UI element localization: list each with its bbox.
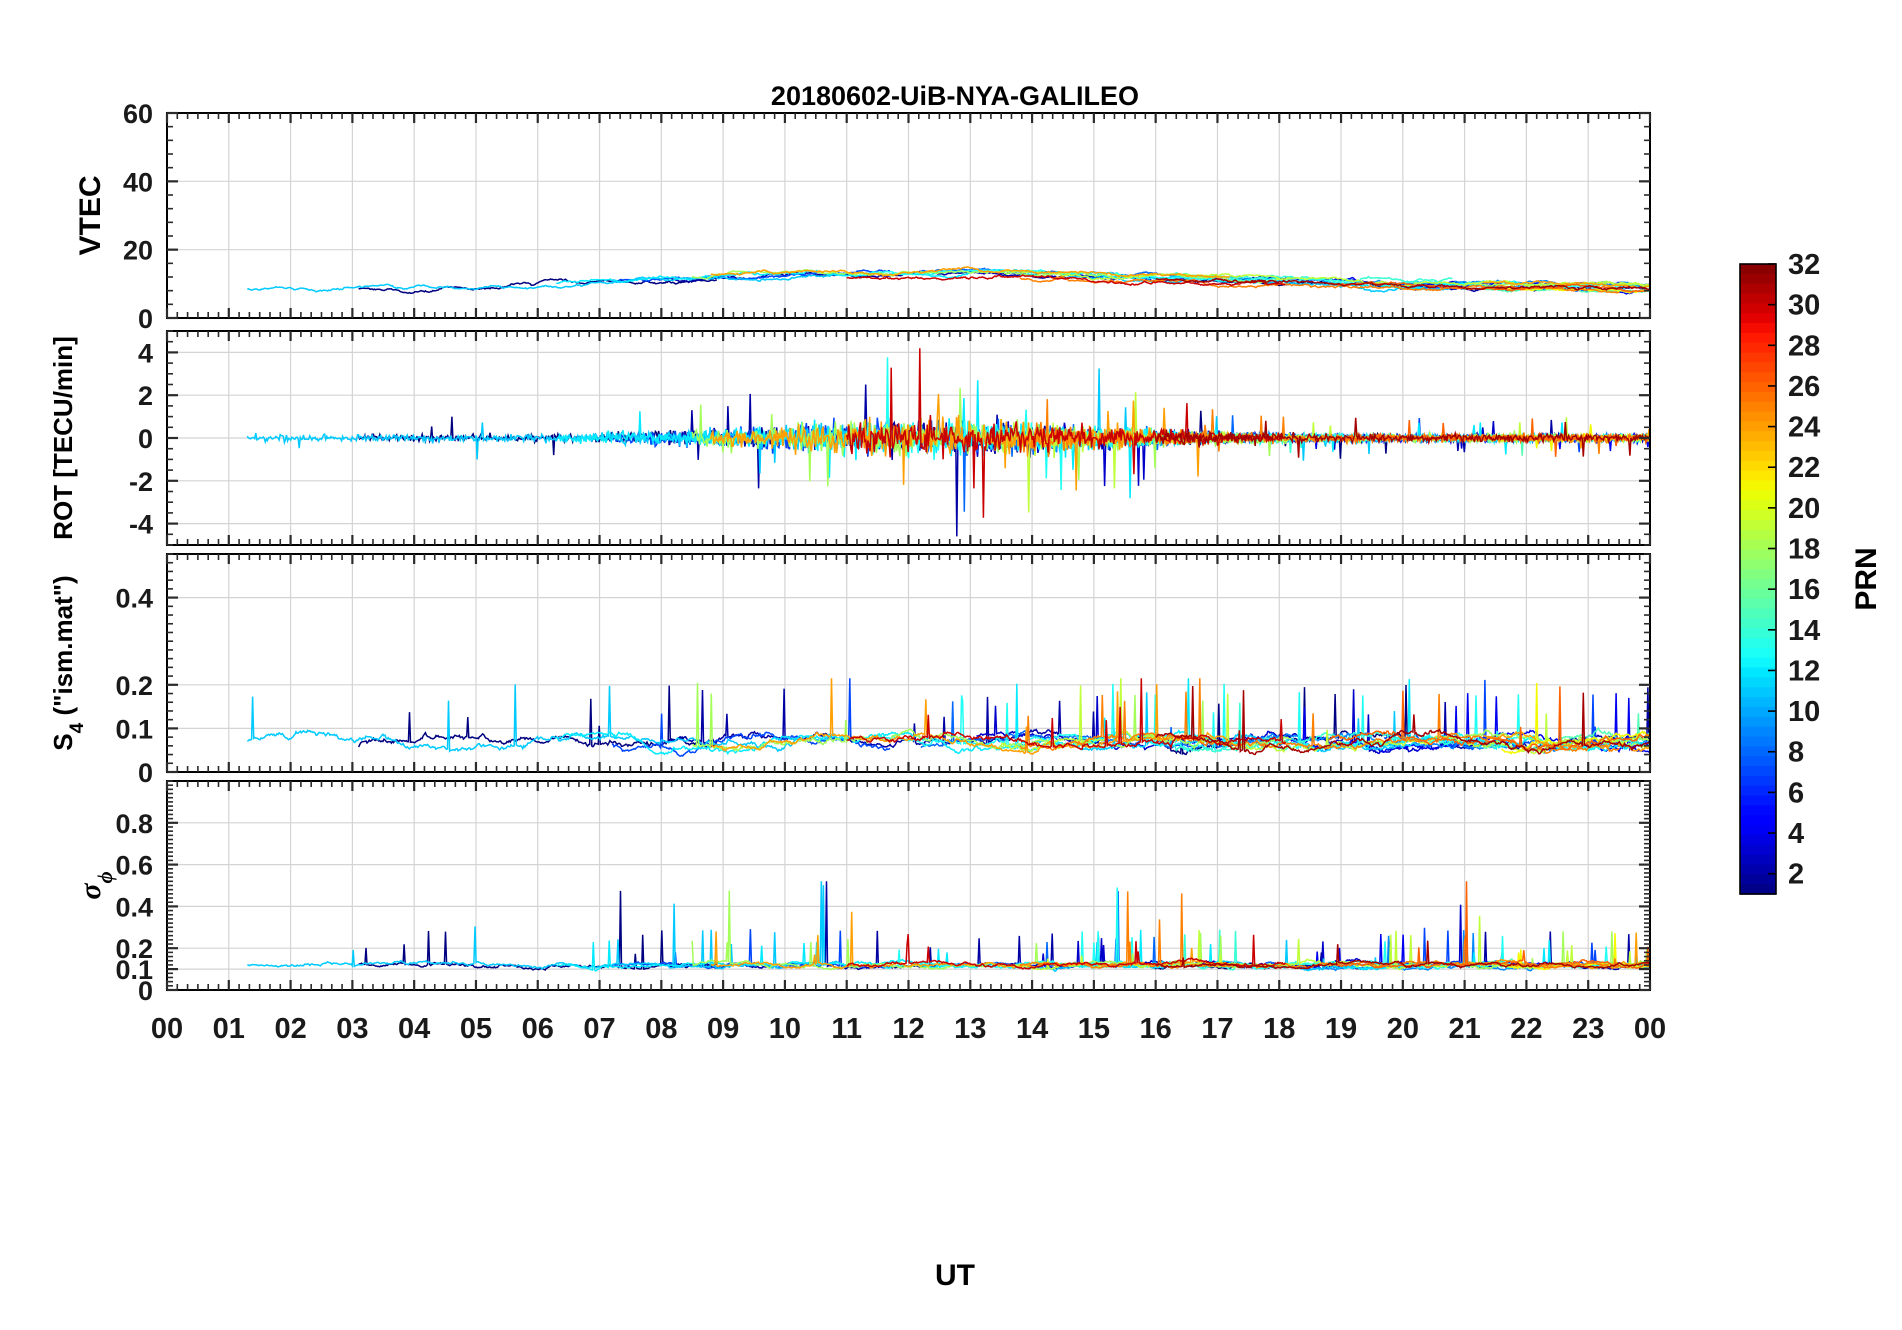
colorbar-segment (1740, 441, 1776, 452)
colorbar-segment (1740, 264, 1776, 275)
colorbar-tick-label: 32 (1788, 249, 1820, 281)
y-tick-label: 4 (138, 338, 153, 368)
colorbar-segment (1740, 796, 1776, 807)
figure-background (0, 0, 1902, 1330)
colorbar-segment (1740, 638, 1776, 649)
x-tick-label: 13 (954, 1013, 986, 1045)
colorbar-segment (1740, 294, 1776, 305)
colorbar-segment (1740, 353, 1776, 364)
colorbar-segment (1740, 569, 1776, 580)
x-tick-label: 16 (1140, 1013, 1172, 1045)
colorbar-segment (1740, 362, 1776, 373)
y-tick-label: -2 (129, 467, 153, 497)
colorbar-segment (1740, 825, 1776, 836)
y-tick-label: 60 (123, 99, 153, 129)
x-tick-label: 10 (769, 1013, 801, 1045)
colorbar-segment (1740, 471, 1776, 482)
x-tick-label: 06 (522, 1013, 554, 1045)
colorbar-segment (1740, 717, 1776, 728)
colorbar-segment (1740, 815, 1776, 826)
colorbar-segment (1740, 284, 1776, 295)
x-tick-label: 07 (583, 1013, 615, 1045)
y-tick-label: 0.6 (115, 851, 153, 881)
colorbar-segment (1740, 372, 1776, 383)
colorbar-segment (1740, 549, 1776, 560)
colorbar-segment (1740, 500, 1776, 511)
y-tick-label: -4 (129, 510, 153, 540)
colorbar-segment (1740, 737, 1776, 748)
x-tick-label: 19 (1325, 1013, 1357, 1045)
colorbar-tick-label: 16 (1788, 574, 1820, 606)
x-tick-label: 17 (1201, 1013, 1233, 1045)
colorbar-tick-label: 26 (1788, 371, 1820, 403)
colorbar-segment (1740, 392, 1776, 403)
x-tick-label: 04 (398, 1013, 430, 1045)
y-tick-label: 20 (123, 236, 153, 266)
colorbar-segment (1740, 599, 1776, 610)
colorbar-segment (1740, 687, 1776, 698)
x-tick-label: 15 (1078, 1013, 1110, 1045)
colorbar-tick-label: 18 (1788, 534, 1820, 566)
colorbar-segment (1740, 884, 1776, 895)
colorbar-label: PRN (1850, 547, 1883, 610)
colorbar-segment (1740, 530, 1776, 541)
colorbar-segment (1740, 323, 1776, 334)
y-tick-label: 0.8 (115, 809, 153, 839)
colorbar-tick-label: 28 (1788, 330, 1820, 362)
figure-title: 20180602-UiB-NYA-GALILEO (771, 81, 1139, 111)
colorbar-segment (1740, 461, 1776, 472)
colorbar-tick-label: 22 (1788, 452, 1820, 484)
colorbar-tick-label: 20 (1788, 493, 1820, 525)
colorbar-tick-label: 24 (1788, 412, 1820, 444)
colorbar-tick-label: 30 (1788, 290, 1820, 322)
colorbar-segment (1740, 658, 1776, 669)
x-tick-label: 09 (707, 1013, 739, 1045)
x-tick-label: 03 (336, 1013, 368, 1045)
x-tick-label: 14 (1016, 1013, 1048, 1045)
y-tick-label: 0 (138, 758, 153, 788)
colorbar-segment (1740, 609, 1776, 620)
colorbar-segment (1740, 677, 1776, 688)
colorbar-segment (1740, 648, 1776, 659)
colorbar-tick-label: 14 (1788, 615, 1820, 647)
y-tick-label: 2 (138, 381, 153, 411)
colorbar-segment (1740, 559, 1776, 570)
colorbar-segment (1740, 579, 1776, 590)
colorbar-segment (1740, 835, 1776, 846)
colorbar-segment (1740, 668, 1776, 679)
y-tick-label: 0.4 (115, 892, 153, 922)
colorbar-segment (1740, 520, 1776, 531)
colorbar-segment (1740, 786, 1776, 797)
colorbar-segment (1740, 756, 1776, 767)
x-tick-label: 08 (645, 1013, 677, 1045)
colorbar-segment (1740, 402, 1776, 413)
colorbar-tick-label: 4 (1788, 818, 1804, 850)
colorbar-segment (1740, 589, 1776, 600)
x-tick-label: 22 (1510, 1013, 1542, 1045)
x-tick-label: 23 (1572, 1013, 1604, 1045)
colorbar-segment (1740, 874, 1776, 885)
colorbar-segment (1740, 431, 1776, 442)
y-tick-label: 0.4 (115, 584, 153, 614)
colorbar-tick-label: 12 (1788, 655, 1820, 687)
colorbar-tick-label: 8 (1788, 737, 1804, 769)
x-tick-label: 00 (1634, 1013, 1666, 1045)
y-axis-label-rot: ROT [TECU/min] (48, 336, 78, 540)
x-tick-label: 01 (213, 1013, 245, 1045)
y-tick-label: 0 (138, 304, 153, 334)
colorbar-segment (1740, 274, 1776, 285)
colorbar-segment (1740, 510, 1776, 521)
x-tick-label: 18 (1263, 1013, 1295, 1045)
colorbar-segment (1740, 490, 1776, 501)
x-tick-label: 11 (831, 1013, 862, 1045)
colorbar-tick-label: 6 (1788, 777, 1804, 809)
colorbar-segment (1740, 855, 1776, 866)
y-tick-label: 0.2 (115, 671, 153, 701)
colorbar-tick-label: 2 (1788, 859, 1804, 891)
colorbar-segment (1740, 845, 1776, 856)
colorbar-segment (1740, 697, 1776, 708)
x-tick-label: 05 (460, 1013, 492, 1045)
colorbar-segment (1740, 481, 1776, 492)
colorbar-segment (1740, 313, 1776, 324)
colorbar-segment (1740, 776, 1776, 787)
colorbar-segment (1740, 707, 1776, 718)
y-tick-label: 0.2 (115, 934, 153, 964)
figure-root: 20180602-UiB-NYA-GALILEO 0204060VTEC-4-2… (0, 0, 1902, 1330)
colorbar-segment (1740, 805, 1776, 816)
colorbar-segment (1740, 343, 1776, 354)
y-tick-label: 40 (123, 167, 153, 197)
colorbar-segment (1740, 382, 1776, 393)
y-axis-label-vtec: VTEC (74, 175, 107, 255)
colorbar-segment (1740, 333, 1776, 344)
x-tick-label: 20 (1387, 1013, 1419, 1045)
colorbar-tick-label: 10 (1788, 696, 1820, 728)
colorbar-segment (1740, 766, 1776, 777)
colorbar-segment (1740, 618, 1776, 629)
x-tick-label: 21 (1448, 1013, 1480, 1045)
y-tick-label: 0.1 (115, 714, 153, 744)
x-axis-label: UT (935, 1259, 975, 1292)
colorbar-segment (1740, 727, 1776, 738)
x-tick-label: 00 (151, 1013, 183, 1045)
colorbar-segment (1740, 412, 1776, 423)
x-tick-label: 02 (274, 1013, 306, 1045)
y-tick-label: 0 (138, 424, 153, 454)
x-tick-label: 12 (892, 1013, 924, 1045)
colorbar-segment (1740, 451, 1776, 462)
